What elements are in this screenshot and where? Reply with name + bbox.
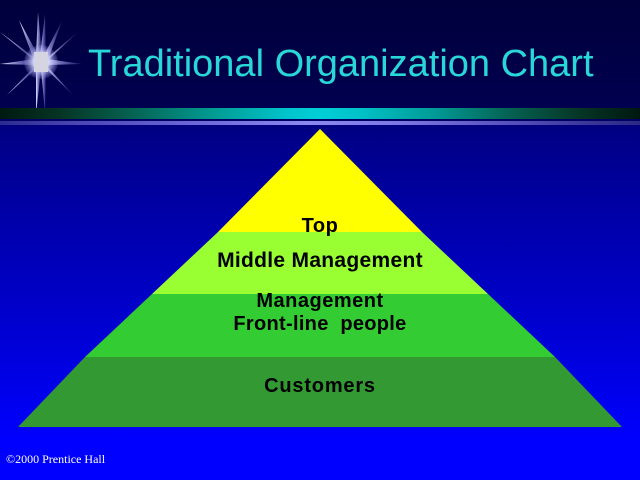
pyramid-shape xyxy=(0,126,640,430)
divider-teal-bar xyxy=(0,108,640,119)
slide-canvas: Traditional Organization Chart Top Manag… xyxy=(0,0,640,480)
pyramid-tier-customers xyxy=(18,357,622,427)
pyramid-tier-middle-management xyxy=(152,232,488,294)
copyright-notice: ©2000 Prentice Hall xyxy=(6,452,105,467)
organization-pyramid: Top Management Middle Management Front-l… xyxy=(0,126,640,430)
page-title: Traditional Organization Chart xyxy=(88,36,628,92)
pyramid-tier-top-management xyxy=(218,129,422,232)
pyramid-tier-front-line xyxy=(85,294,555,357)
